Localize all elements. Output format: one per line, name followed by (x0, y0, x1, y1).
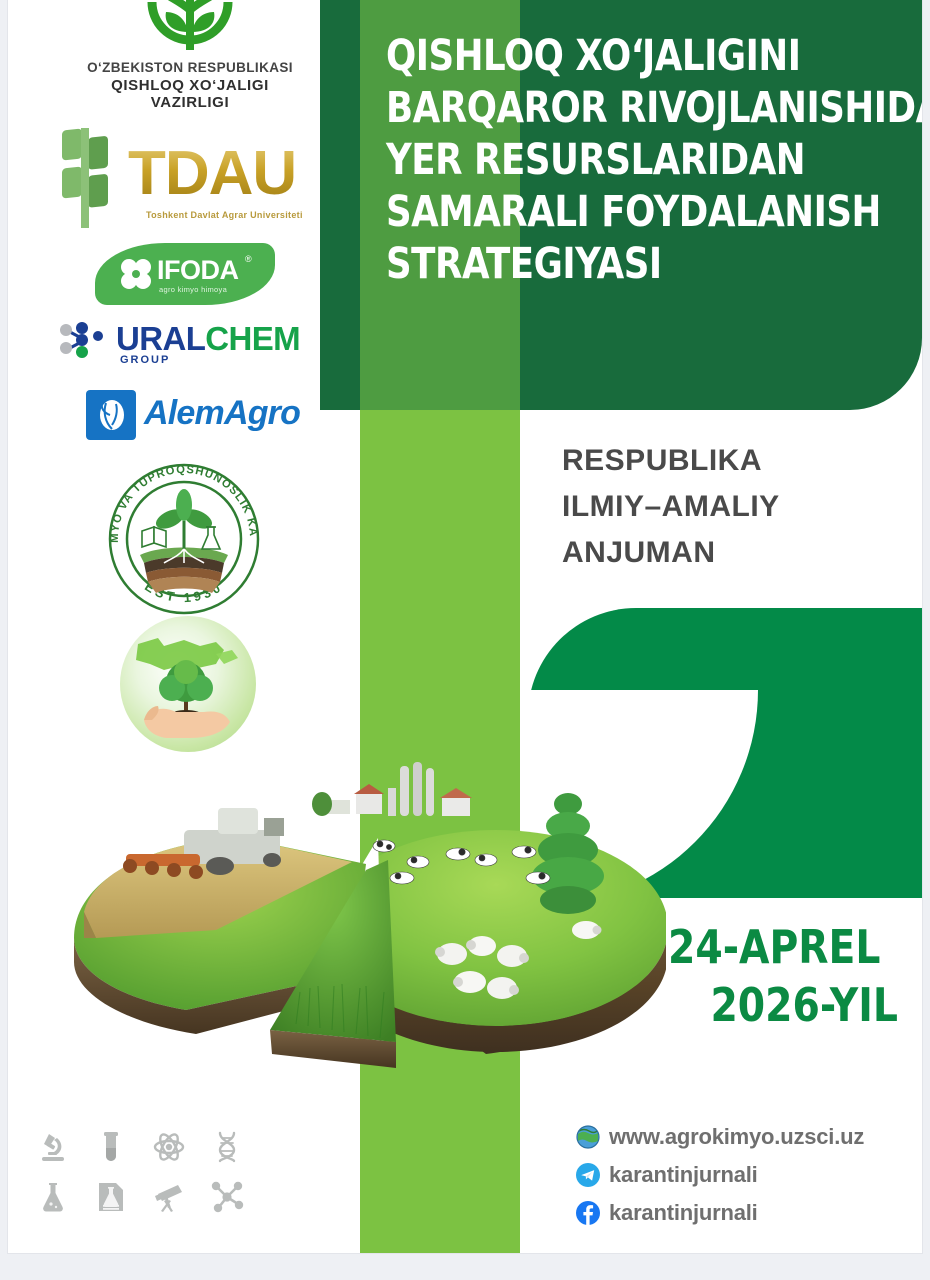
logo-ifoda: IFODA ® agro kimyo himoya (95, 243, 275, 305)
alemagro-word-alem: Alem (144, 394, 224, 432)
farm-buildings (312, 762, 472, 816)
logo-alemagro: AlemAgro (86, 388, 286, 446)
ministry-line-1: O‘ZBEKISTON RESPUBLIKASI (80, 60, 300, 75)
subtitle-line-2: ILMIY–AMALIY (562, 484, 780, 530)
science-icon-grid (36, 1122, 216, 1222)
uralchem-word-chem: CHEM (205, 320, 300, 357)
contact-facebook-label: karantinjurnali (609, 1200, 758, 1226)
contact-website-label: www.agrokimyo.uzsci.uz (609, 1124, 864, 1150)
logo-ministry-of-agriculture: O‘ZBEKISTON RESPUBLIKASI QISHLOQ XO‘JALI… (80, 0, 300, 111)
lab-document-icon (94, 1180, 128, 1214)
atom-icon (152, 1130, 186, 1164)
test-tube-icon (94, 1130, 128, 1164)
alemagro-wordmark: AlemAgro (144, 394, 300, 433)
telescope-icon (152, 1180, 186, 1214)
ministry-line-3: VAZIRLIGI (80, 94, 300, 111)
contact-telegram-label: karantinjurnali (609, 1162, 758, 1188)
sprout-in-bowl-icon (80, 0, 300, 54)
hero-pie-chart-farmland (66, 742, 666, 1120)
title-line-5: STRATEGIYASI (386, 238, 874, 290)
globe-icon (576, 1125, 600, 1149)
contact-website[interactable]: www.agrokimyo.uzsci.uz (576, 1118, 916, 1156)
science-icon-row-1 (36, 1122, 216, 1172)
ministry-line-2: QISHLOQ XO‘JALIGI (80, 77, 300, 94)
contact-facebook[interactable]: karantinjurnali (576, 1194, 916, 1232)
telegram-icon (576, 1163, 600, 1187)
event-date-year: 2026-YIL (668, 976, 906, 1034)
ifoda-tagline: agro kimyo himoya (159, 285, 227, 294)
event-date: 24-APREL 2026-YIL (668, 918, 906, 1034)
uralchem-wordmark: URALCHEM (116, 320, 300, 358)
title-line-1: QISHLOQ XO‘JALIGINI (386, 30, 874, 82)
hand-holding-tree-uzbekistan-map-icon (120, 616, 256, 752)
event-date-day: 24-APREL (668, 918, 906, 976)
science-icon-row-2 (36, 1172, 216, 1222)
ifoda-registered-mark: ® (245, 254, 252, 264)
microscope-icon (36, 1130, 70, 1164)
tdau-tagline: Toshkent Davlat Agrar Universiteti (146, 210, 303, 220)
tdau-wordmark: TDAU (128, 138, 296, 209)
subtitle-line-3: ANJUMAN (562, 530, 780, 576)
logo-hand-holding-tree (120, 616, 256, 752)
alemagro-word-agro: Agro (224, 394, 300, 432)
title-line-3: YER RESURSLARIDAN (386, 134, 874, 186)
flask-icon (36, 1180, 70, 1214)
title-line-4: SAMARALI FOYDALANISH (386, 186, 874, 238)
topiary-tree (532, 793, 604, 914)
logo-tdau: TDAU Toshkent Davlat Agrar Universiteti (48, 128, 318, 232)
soil-profile-seal-icon: AGROKIMYO VA TUPROQSHUNOSLIK KAFEDRASI E… (108, 463, 260, 615)
uralchem-group-label: GROUP (120, 354, 170, 366)
contact-telegram[interactable]: karantinjurnali (576, 1156, 916, 1194)
molecule-icon (210, 1180, 244, 1214)
uralchem-word-ural: URAL (116, 320, 205, 357)
page-title: QISHLOQ XO‘JALIGINI BARQAROR RIVOJLANISH… (386, 30, 874, 290)
subtitle-line-1: RESPUBLIKA (562, 438, 780, 484)
contact-list: www.agrokimyo.uzsci.uz karantinjurnali k… (576, 1118, 916, 1232)
conference-poster: QISHLOQ XO‘JALIGINI BARQAROR RIVOJLANISH… (8, 0, 922, 1253)
logo-department-seal: AGROKIMYO VA TUPROQSHUNOSLIK KAFEDRASI E… (108, 463, 260, 615)
logo-uralchem: URALCHEM GROUP (58, 320, 318, 372)
event-subtitle: RESPUBLIKA ILMIY–AMALIY ANJUMAN (562, 438, 780, 576)
ifoda-wordmark: IFODA (157, 255, 239, 286)
dna-icon (210, 1130, 244, 1164)
facebook-icon (576, 1201, 600, 1225)
title-line-2: BARQAROR RIVOJLANISHIDA (386, 82, 874, 134)
